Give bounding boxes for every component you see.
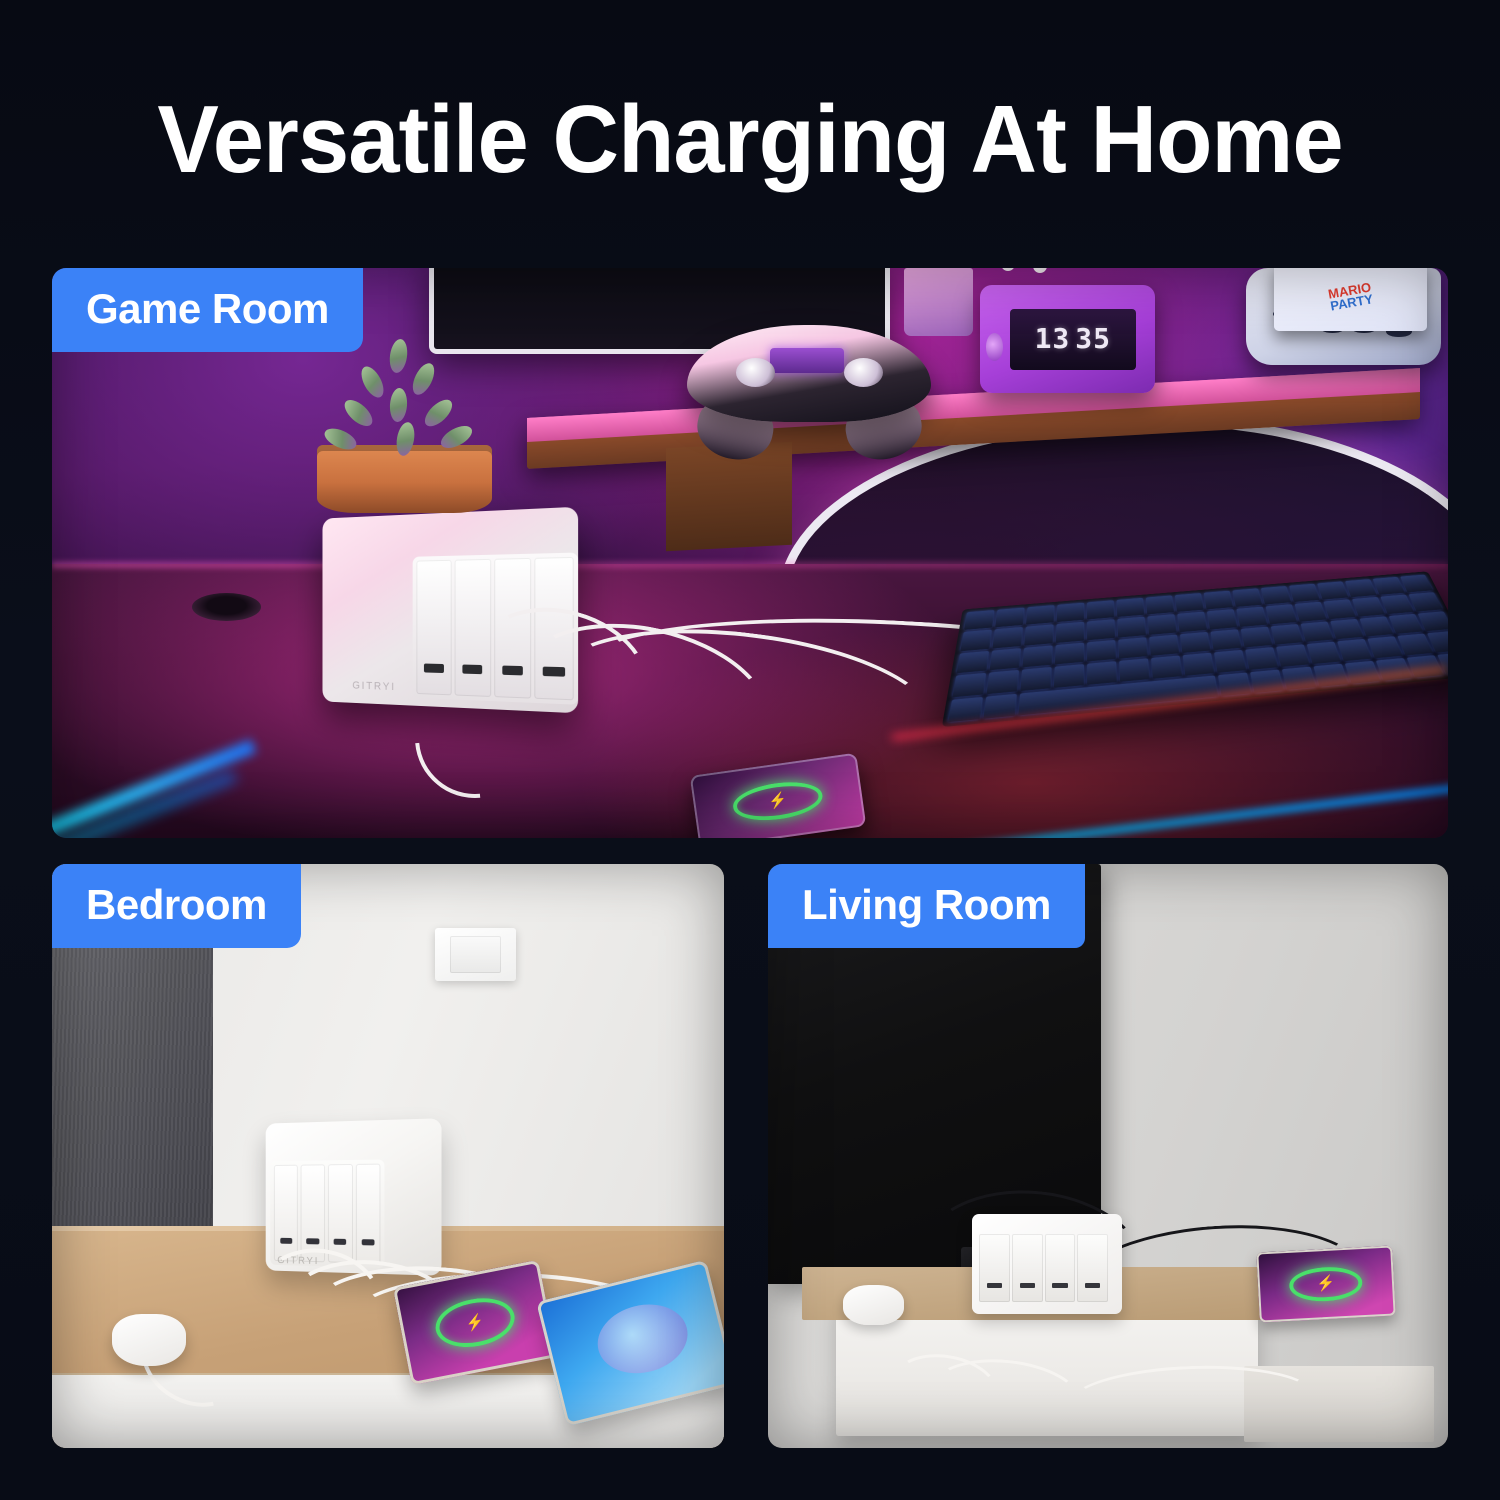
lightning-bolt-icon: ⚡ (1316, 1274, 1336, 1293)
marketing-infographic: Versatile Charging At Home (0, 0, 1500, 1500)
game-cartridge-case: MARIO PARTY (1274, 268, 1428, 331)
marshmallow-decor (1001, 268, 1127, 291)
controller-stick-right (844, 358, 883, 387)
wall-light-switch (435, 928, 516, 981)
clock-knob (986, 333, 1003, 361)
charger-port-row (979, 1234, 1108, 1302)
controller-body (687, 325, 931, 422)
panel-game-room: 13 35 MARIO PARTY (52, 268, 1448, 838)
game-controller (687, 325, 931, 422)
page-title: Versatile Charging At Home (30, 92, 1470, 188)
earbuds-case (843, 1285, 904, 1326)
controller-touchpad (770, 348, 843, 373)
scene-game-room: 13 35 MARIO PARTY (52, 268, 1448, 838)
earbuds-case (112, 1314, 186, 1367)
charger-port (1012, 1234, 1043, 1302)
clock-minutes: 35 (1075, 325, 1111, 353)
charging-station (972, 1214, 1122, 1313)
panel-living-room: ⚡ Living Room (768, 864, 1448, 1448)
charger-port (979, 1234, 1010, 1302)
badge-game-room: Game Room (52, 268, 363, 352)
clock-display: 13 35 (1010, 309, 1136, 370)
scene-living-room: ⚡ (768, 864, 1448, 1448)
charger-brand-label: GITRYI (353, 680, 397, 693)
charger-port (416, 560, 451, 696)
cartridge-label: MARIO PARTY (1327, 281, 1374, 312)
badge-living-room: Living Room (768, 864, 1085, 948)
charger-port (1045, 1234, 1076, 1302)
badge-bedroom: Bedroom (52, 864, 301, 948)
controller-stick-left (736, 358, 775, 387)
charger-port (328, 1164, 353, 1262)
scene-bedroom: GITRYI ⚡ (52, 864, 724, 1448)
lightning-bolt-icon: ⚡ (464, 1311, 486, 1332)
charger-port (275, 1165, 299, 1261)
panel-bedroom: GITRYI ⚡ Bedroom (52, 864, 724, 1448)
smartphone-charging: ⚡ (1256, 1246, 1395, 1323)
charger-port (1077, 1234, 1108, 1302)
flip-clock: 13 35 (980, 285, 1155, 393)
charger-port (356, 1164, 381, 1263)
clock-hours: 13 (1035, 325, 1071, 353)
lightning-bolt-icon: ⚡ (767, 790, 788, 810)
